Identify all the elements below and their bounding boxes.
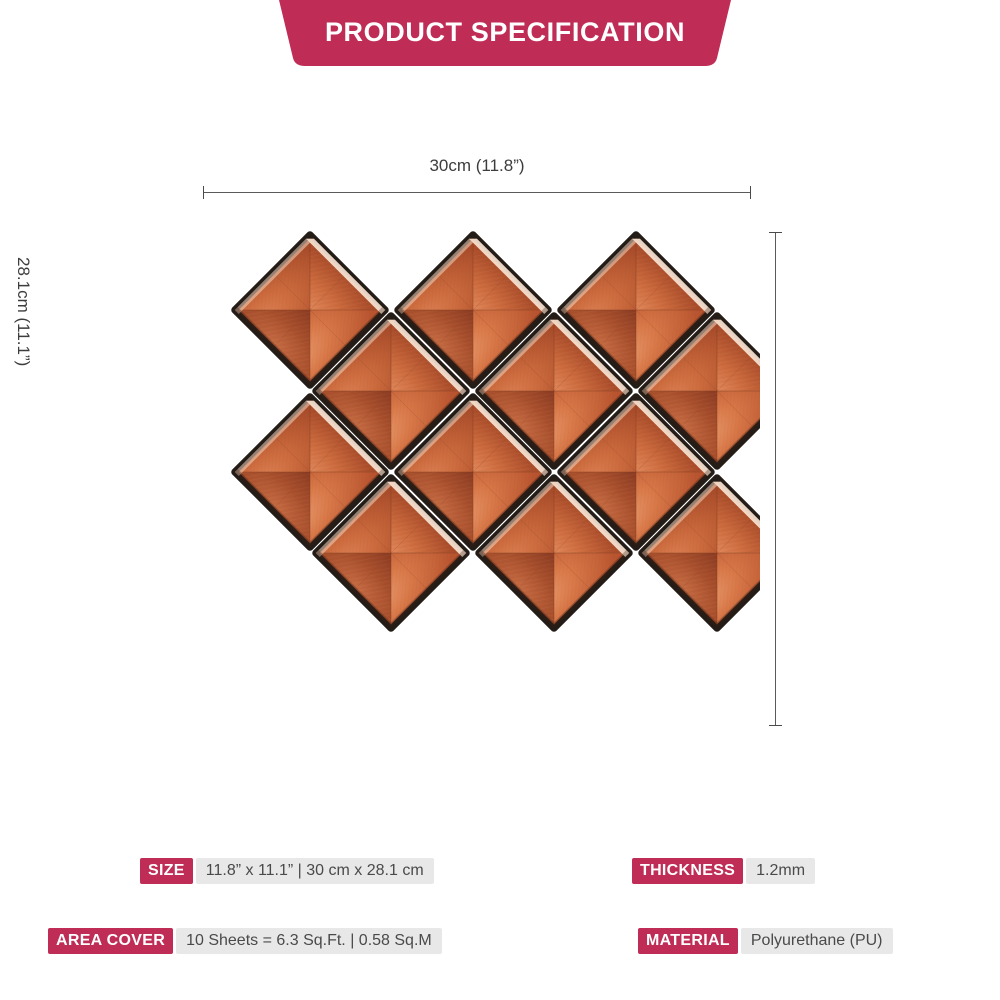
spec-row-thickness: THICKNESS 1.2mm [632, 858, 815, 884]
spec-value-material: Polyurethane (PU) [741, 928, 893, 954]
spec-value-size: 11.8” x 11.1” | 30 cm x 28.1 cm [196, 858, 434, 884]
page-title: PRODUCT SPECIFICATION [265, 0, 745, 64]
spec-row-material: MATERIAL Polyurethane (PU) [638, 928, 893, 954]
width-dimension-cap-left [203, 186, 204, 199]
width-dimension-cap-right [750, 186, 751, 199]
width-dimension-label: 30cm (11.8”) [203, 156, 751, 176]
product-tile-image [195, 228, 760, 733]
header-banner: PRODUCT SPECIFICATION [265, 0, 745, 72]
width-dimension: 30cm (11.8”) [203, 186, 751, 200]
spec-row-size: SIZE 11.8” x 11.1” | 30 cm x 28.1 cm [140, 858, 434, 884]
spec-value-area-cover: 10 Sheets = 6.3 Sq.Ft. | 0.58 Sq.M [176, 928, 442, 954]
spec-key-thickness: THICKNESS [632, 858, 743, 884]
spec-key-size: SIZE [140, 858, 193, 884]
width-dimension-line [203, 192, 751, 193]
tile-pattern-svg [195, 228, 760, 733]
height-dimension-line [775, 232, 776, 726]
height-dimension [769, 232, 783, 726]
spec-row-area-cover: AREA COVER 10 Sheets = 6.3 Sq.Ft. | 0.58… [48, 928, 442, 954]
height-dimension-cap-bottom [769, 725, 782, 726]
spec-key-material: MATERIAL [638, 928, 738, 954]
spec-key-area-cover: AREA COVER [48, 928, 173, 954]
height-dimension-label: 28.1cm (11.1”) [13, 257, 33, 366]
height-dimension-cap-top [769, 232, 782, 233]
spec-value-thickness: 1.2mm [746, 858, 815, 884]
